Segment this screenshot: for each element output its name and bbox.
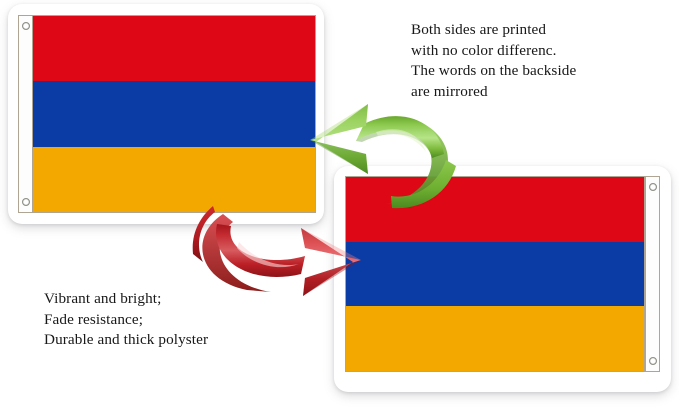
grommet-icon [649,183,657,191]
flag-stripe-blue [33,81,315,146]
grommet-icon [22,22,30,30]
flag-stripe-red [33,16,315,81]
front-flag-hoist-band [18,15,33,213]
note-both-sides-printed: Both sides are printed with no color dif… [411,20,576,102]
note-material-features: Vibrant and bright; Fade resistance; Dur… [44,289,208,351]
front-flag-card [8,4,324,224]
grommet-icon [22,198,30,206]
grommet-icon [649,357,657,365]
flag-stripe-orange [346,306,644,371]
curved-arrow-pointing-right-icon [193,198,368,298]
back-flag-hoist-band [645,176,660,372]
front-flag-image [32,15,316,213]
product-infographic: Both sides are printed with no color dif… [0,0,679,408]
curved-arrow-pointing-left-icon [296,96,466,206]
flag-stripe-blue [346,242,644,307]
